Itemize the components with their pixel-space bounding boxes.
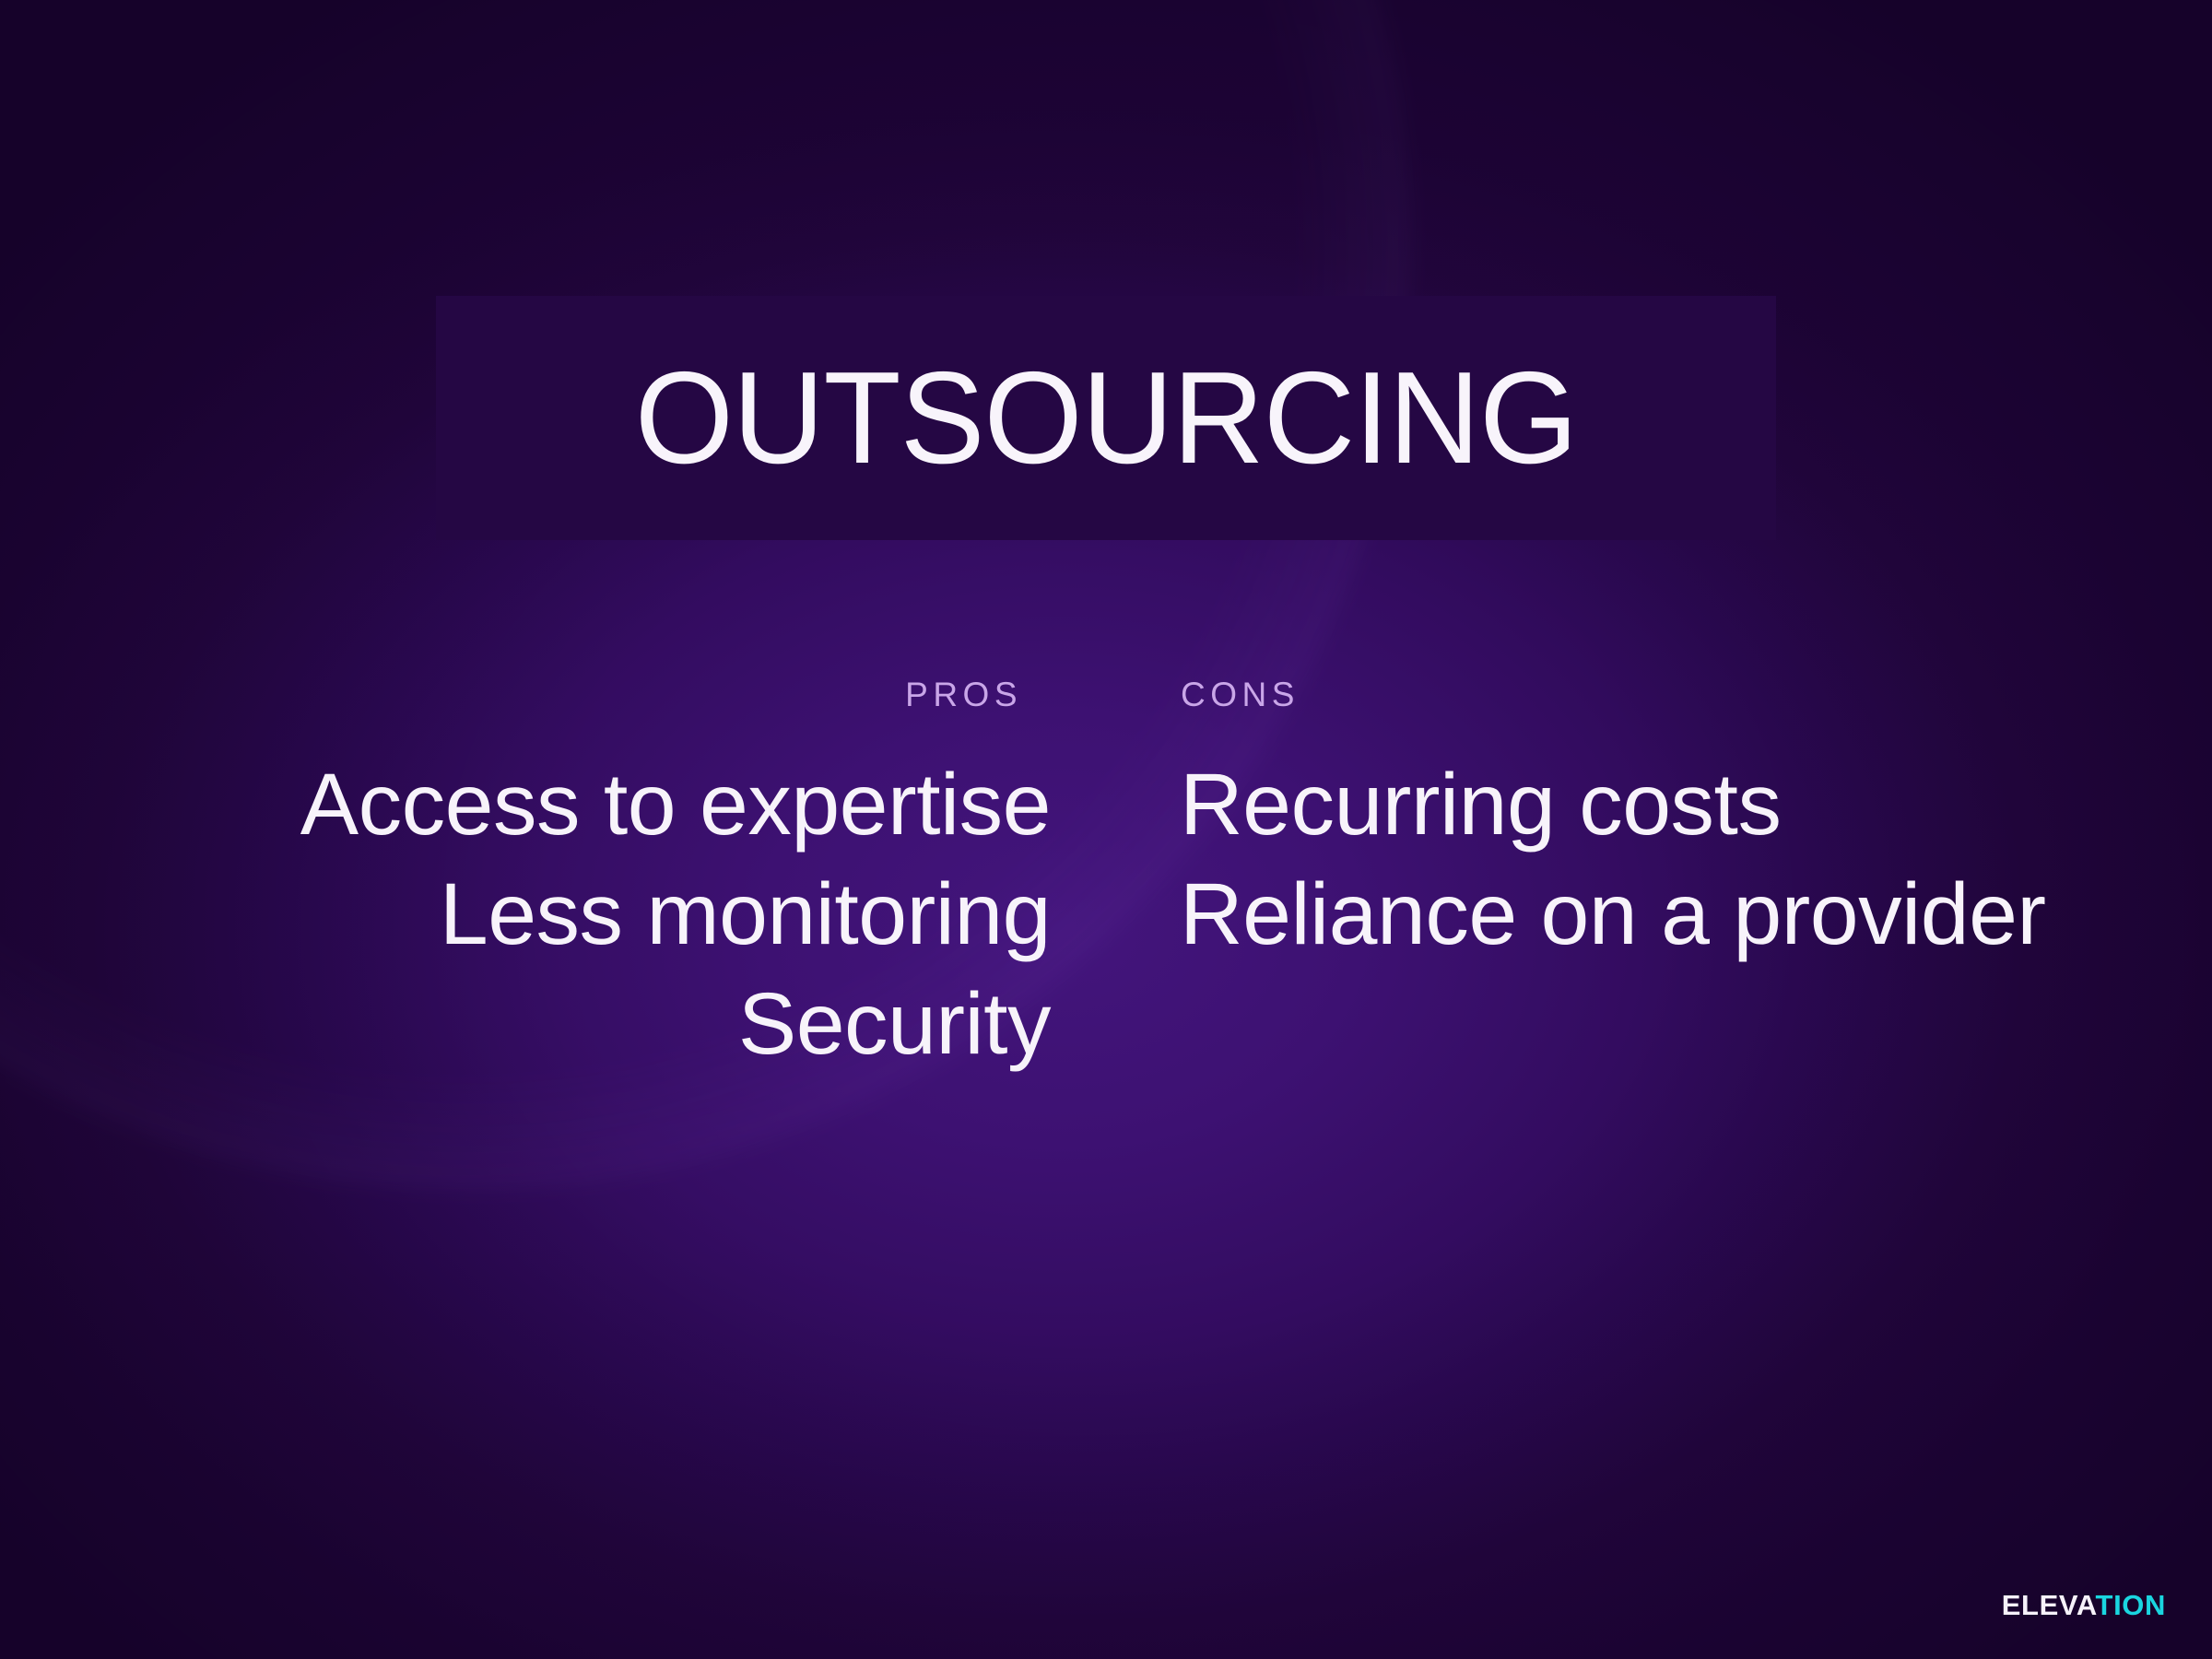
- logo-text-primary: ELEVA: [2002, 1589, 2096, 1621]
- cons-column-label: CONS: [1180, 677, 2120, 712]
- logo-text-accent: TION: [2096, 1589, 2166, 1621]
- pros-list-item: Security: [0, 970, 1051, 1079]
- pros-column: PROS Access to expertise Less monitoring…: [0, 677, 1051, 1079]
- pros-cons-columns: PROS Access to expertise Less monitoring…: [0, 677, 2212, 1079]
- pros-column-label: PROS: [0, 677, 1051, 712]
- cons-list-item: Recurring costs: [1180, 750, 2120, 860]
- pros-list-item: Less monitoring: [0, 860, 1051, 970]
- elevation-logo: ELEVATION: [2002, 1591, 2166, 1619]
- cons-list: Recurring costs Reliance on a provider: [1180, 750, 2120, 970]
- title-banner: OUTSOURCING: [436, 296, 1776, 540]
- pros-list: Access to expertise Less monitoring Secu…: [0, 750, 1051, 1079]
- pros-list-item: Access to expertise: [0, 750, 1051, 860]
- presentation-slide: OUTSOURCING PROS Access to expertise Les…: [0, 0, 2212, 1659]
- slide-title: OUTSOURCING: [635, 353, 1577, 484]
- cons-list-item: Reliance on a provider: [1180, 860, 2120, 970]
- cons-column: CONS Recurring costs Reliance on a provi…: [1051, 677, 2120, 970]
